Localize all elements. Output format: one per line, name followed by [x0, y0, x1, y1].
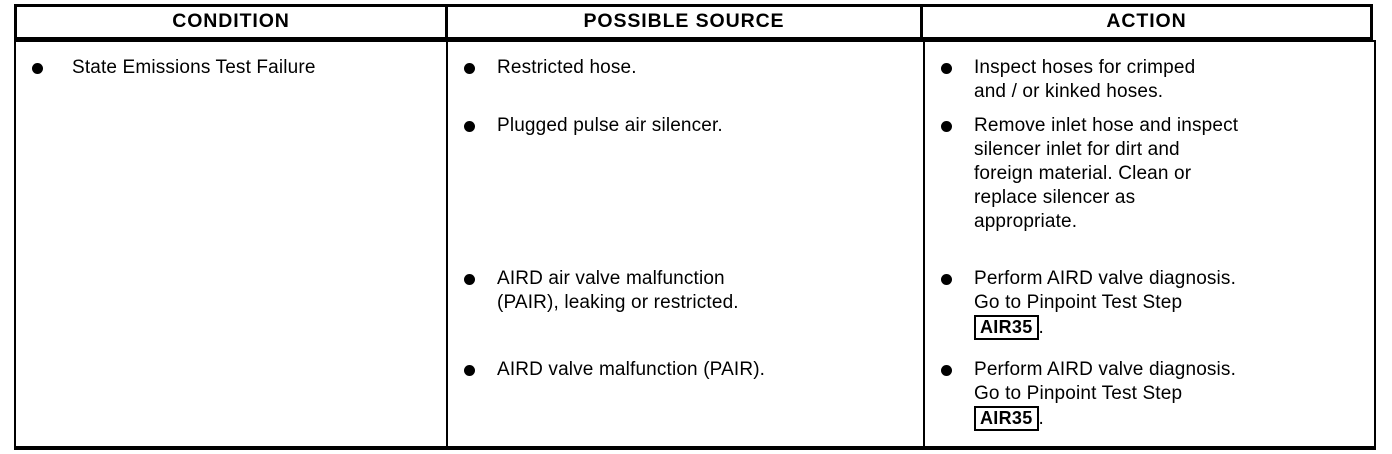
list-item: Perform AIRD valve diagnosis. Go to Pinp… [941, 358, 1236, 431]
pinpoint-suffix: . [1039, 408, 1044, 429]
bullet-icon [941, 274, 952, 285]
list-item: AIRD valve malfunction (PAIR). [464, 358, 765, 382]
bullet-icon [464, 365, 475, 376]
bullet-icon [941, 63, 952, 74]
list-item: Inspect hoses for crimped and / or kinke… [941, 56, 1195, 104]
list-item: AIRD air valve malfunction (PAIR), leaki… [464, 267, 739, 315]
list-item: Plugged pulse air silencer. [464, 114, 723, 138]
table-header-row: CONDITION POSSIBLE SOURCE ACTION [14, 4, 1376, 40]
column-header-label-action: ACTION [1106, 12, 1186, 32]
list-item-label: Plugged pulse air silencer. [497, 114, 723, 138]
bullet-icon [32, 63, 43, 74]
table-header-cell-condition: CONDITION [14, 4, 448, 40]
list-item-label: Restricted hose. [497, 56, 637, 80]
bullet-icon [464, 121, 475, 132]
table-header-cell-action: ACTION [920, 4, 1373, 40]
list-item: Remove inlet hose and inspect silencer i… [941, 114, 1238, 234]
list-item: Perform AIRD valve diagnosis. Go to Pinp… [941, 267, 1236, 340]
table-cell-condition: State Emissions Test Failure [16, 42, 448, 446]
diagnostic-table-page: CONDITION POSSIBLE SOURCE ACTION State E… [0, 0, 1392, 454]
list-item-body: Perform AIRD valve diagnosis. Go to Pinp… [974, 358, 1236, 431]
list-item: State Emissions Test Failure [32, 56, 316, 80]
table-header-cell-possible-source: POSSIBLE SOURCE [445, 4, 923, 40]
bullet-icon [464, 63, 475, 74]
column-header-label-possible-source: POSSIBLE SOURCE [584, 12, 785, 32]
table-body-row: State Emissions Test Failure Restricted … [14, 40, 1376, 450]
table-cell-action: Inspect hoses for crimped and / or kinke… [925, 42, 1374, 446]
list-item-label: AIRD valve malfunction (PAIR). [497, 358, 765, 382]
list-item-label: Remove inlet hose and inspect silencer i… [974, 114, 1238, 234]
pinpoint-reference: AIR35. [974, 406, 1236, 431]
list-item-label: AIRD air valve malfunction (PAIR), leaki… [497, 267, 739, 315]
pinpoint-code-badge[interactable]: AIR35 [974, 315, 1039, 340]
pinpoint-reference: AIR35. [974, 315, 1236, 340]
bullet-icon [941, 121, 952, 132]
list-item-label: State Emissions Test Failure [72, 56, 316, 80]
column-header-label-condition: CONDITION [172, 12, 290, 32]
list-item: Restricted hose. [464, 56, 637, 80]
list-item-label: Inspect hoses for crimped and / or kinke… [974, 56, 1195, 104]
bullet-icon [464, 274, 475, 285]
pinpoint-suffix: . [1039, 317, 1044, 338]
list-item-body: Perform AIRD valve diagnosis. Go to Pinp… [974, 267, 1236, 340]
bullet-icon [941, 365, 952, 376]
pinpoint-code-badge[interactable]: AIR35 [974, 406, 1039, 431]
table-cell-possible-source: Restricted hose. Plugged pulse air silen… [448, 42, 925, 446]
list-item-label: Perform AIRD valve diagnosis. Go to Pinp… [974, 359, 1236, 404]
list-item-label: Perform AIRD valve diagnosis. Go to Pinp… [974, 268, 1236, 313]
